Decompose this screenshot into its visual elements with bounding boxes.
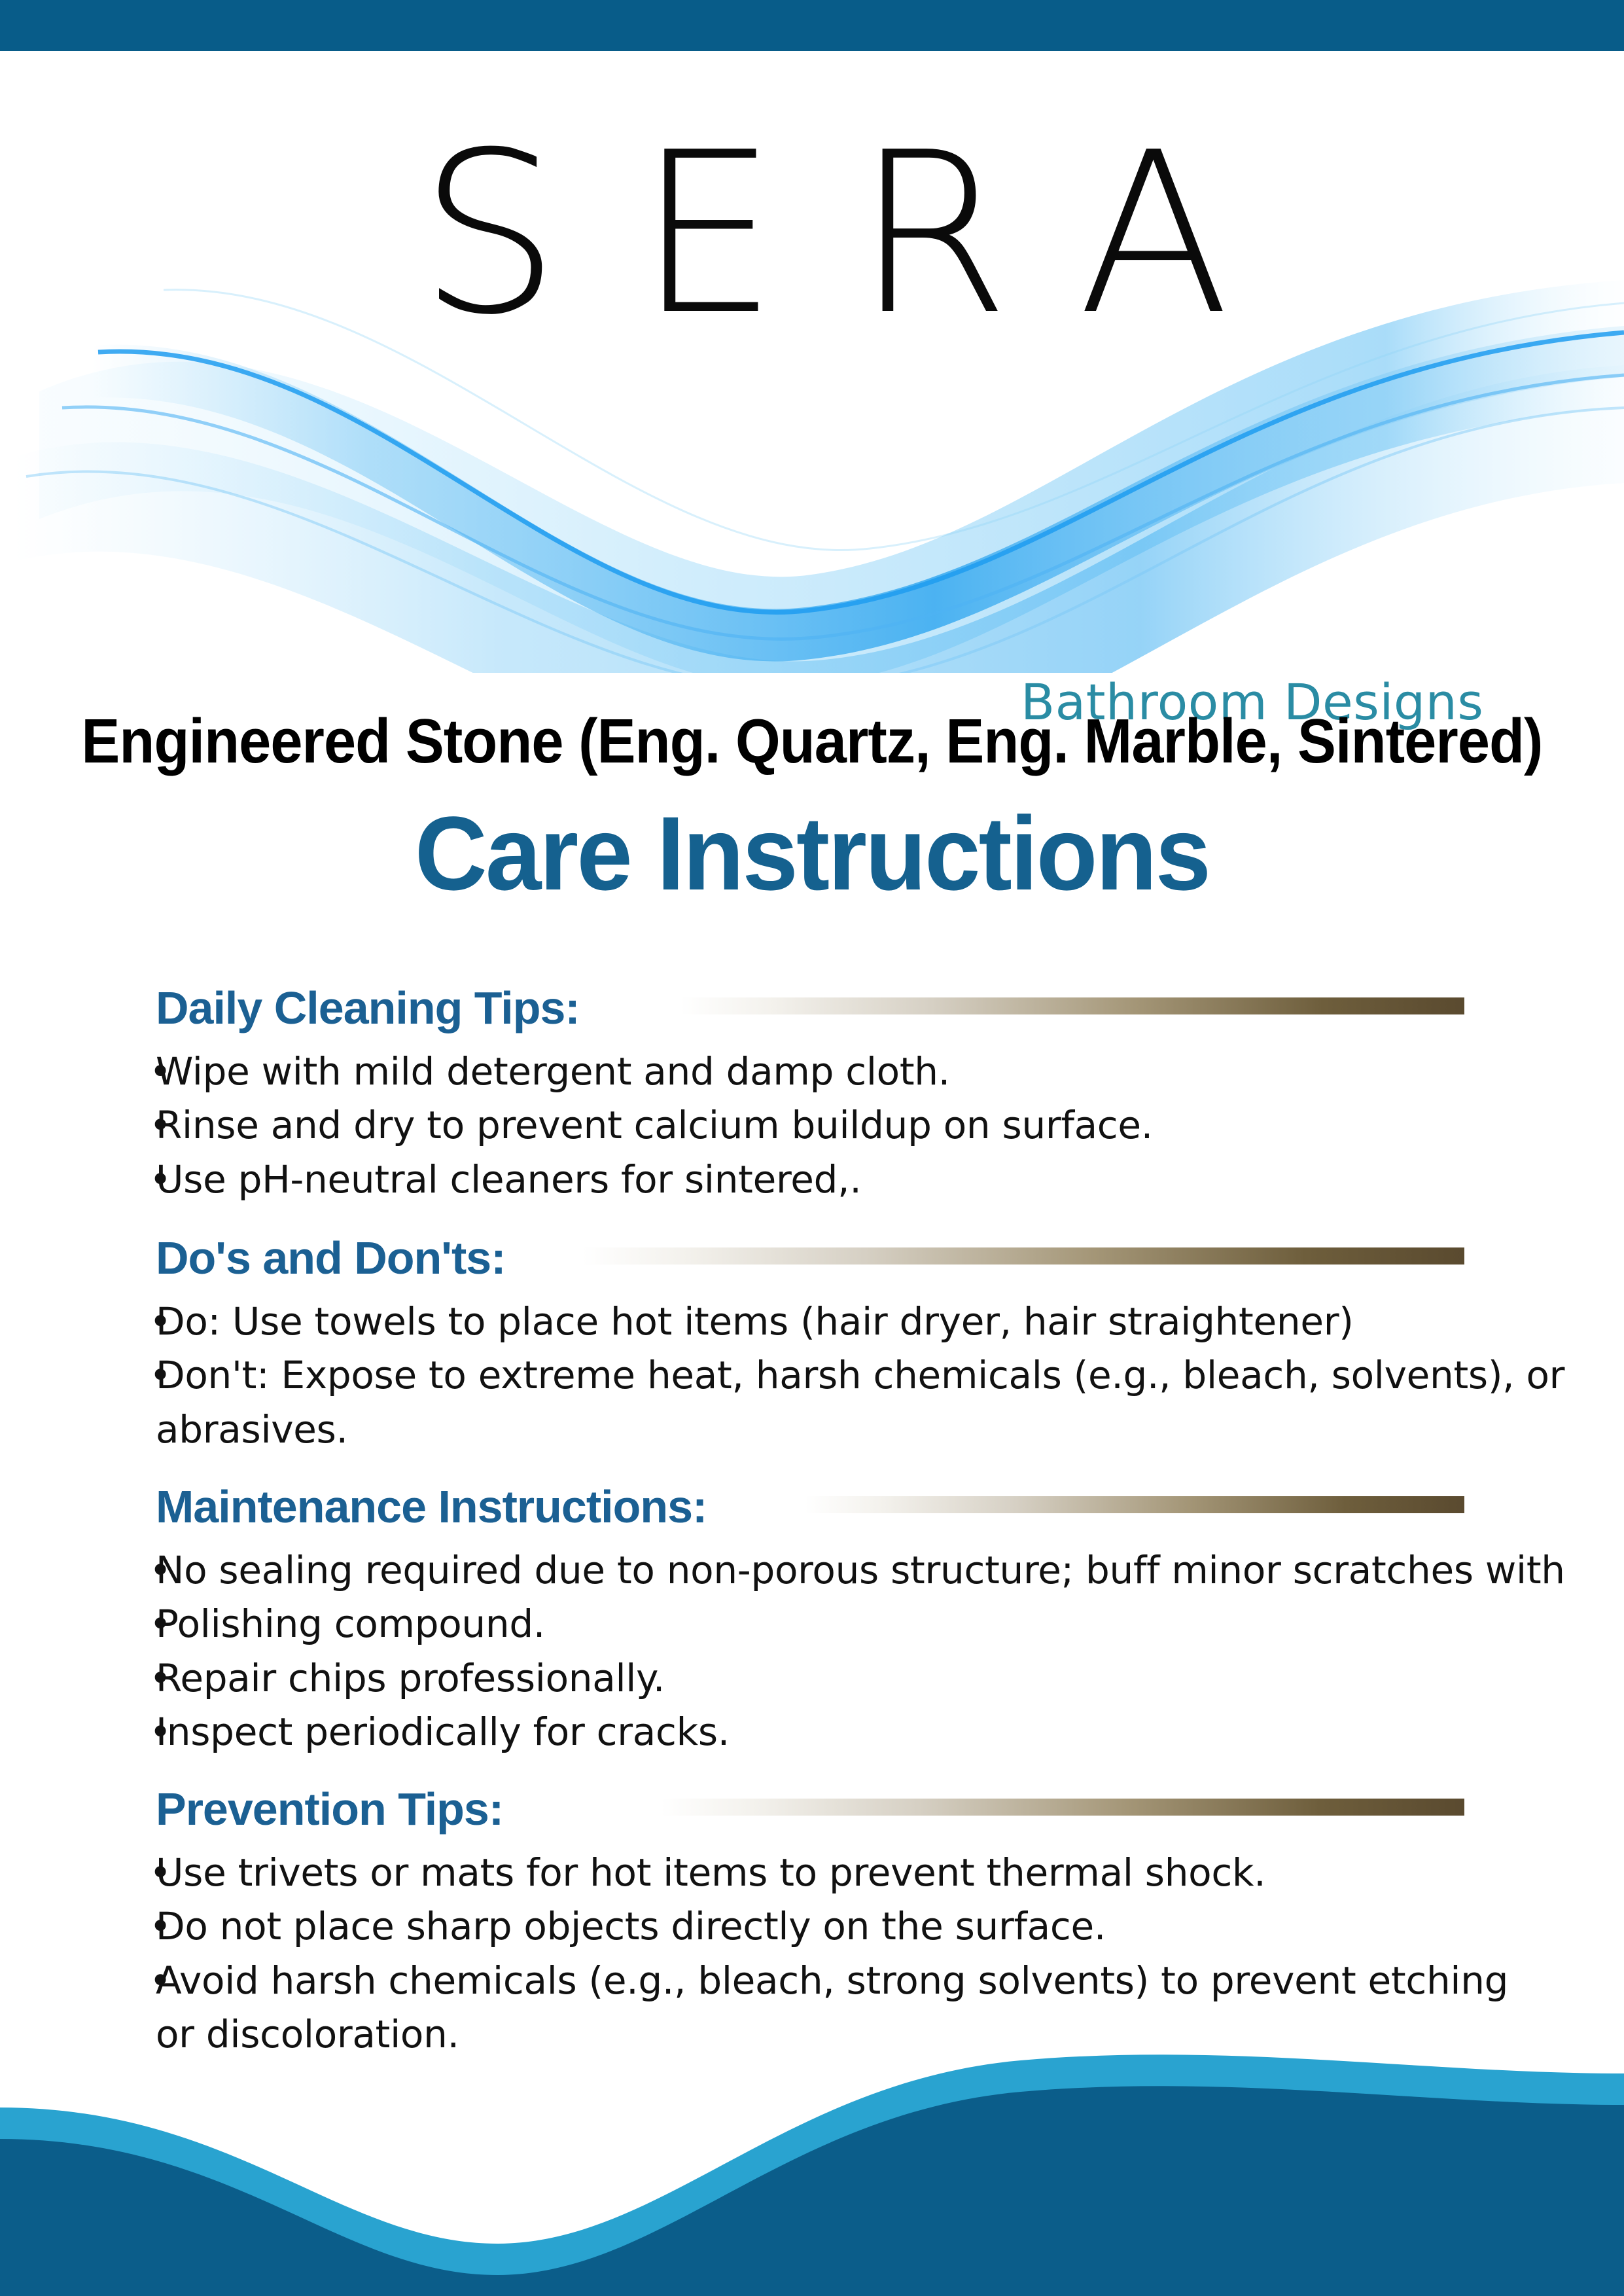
list-item-text: Avoid harsh chemicals (e.g., bleach, str… bbox=[156, 1958, 1508, 2056]
list-item: •Repair chips professionally. bbox=[0, 1651, 1624, 1705]
list-item: •Inspect periodically for cracks. bbox=[0, 1705, 1624, 1759]
section-header-row: Daily Cleaning Tips: bbox=[0, 982, 1624, 1045]
list-item-text: Do: Use towels to place hot items (hair … bbox=[156, 1299, 1354, 1344]
bullet-marker-icon: • bbox=[149, 1153, 171, 1206]
section-heading-daily-cleaning-tips: Daily Cleaning Tips: bbox=[156, 982, 580, 1034]
list-item: •Rinse and dry to prevent calcium buildu… bbox=[0, 1098, 1624, 1152]
subject-title: Engineered Stone (Eng. Quartz, Eng. Marb… bbox=[65, 706, 1559, 778]
list-item-text: Repair chips professionally. bbox=[156, 1656, 665, 1700]
section-divider-rule bbox=[582, 1247, 1464, 1265]
section-maintenance-instructions: Maintenance Instructions: •No sealing re… bbox=[0, 1480, 1624, 1759]
list-item-text: Do not place sharp objects directly on t… bbox=[156, 1904, 1106, 1948]
section-header-row: Prevention Tips: bbox=[0, 1783, 1624, 1846]
bullet-marker-icon: • bbox=[149, 1295, 171, 1348]
list-item-text: Inspect periodically for cracks. bbox=[156, 1710, 730, 1754]
footer-wave-graphic bbox=[0, 2047, 1624, 2296]
bullet-marker-icon: • bbox=[149, 1954, 171, 2007]
bullet-marker-icon: • bbox=[149, 1348, 171, 1402]
list-item-text: Wipe with mild detergent and damp cloth. bbox=[156, 1049, 950, 1094]
list-item-text: No sealing required due to non-porous st… bbox=[156, 1548, 1565, 1592]
bullet-list-prevention-tips: •Use trivets or mats for hot items to pr… bbox=[0, 1846, 1624, 2061]
top-accent-bar bbox=[0, 0, 1624, 51]
list-item: •Don't: Expose to extreme heat, harsh ch… bbox=[0, 1348, 1624, 1456]
list-item-text: Don't: Expose to extreme heat, harsh che… bbox=[156, 1353, 1564, 1451]
bullet-marker-icon: • bbox=[149, 1899, 171, 1953]
bullet-list-maintenance-instructions: •No sealing required due to non-porous s… bbox=[0, 1543, 1624, 1759]
bullet-marker-icon: • bbox=[149, 1045, 171, 1098]
bullet-marker-icon: • bbox=[149, 1543, 171, 1597]
list-item: •Wipe with mild detergent and damp cloth… bbox=[0, 1045, 1624, 1098]
section-divider-rule bbox=[661, 1799, 1464, 1816]
list-item-text: Use trivets or mats for hot items to pre… bbox=[156, 1850, 1265, 1895]
section-header-row: Maintenance Instructions: bbox=[0, 1480, 1624, 1543]
list-item: •Polishing compound. bbox=[0, 1597, 1624, 1651]
brand-logo-wordmark: SERA bbox=[249, 123, 1400, 346]
bullet-list-dos-and-donts: •Do: Use towels to place hot items (hair… bbox=[0, 1295, 1624, 1456]
page-title: Care Instructions bbox=[33, 793, 1592, 914]
list-item-text: Polishing compound. bbox=[156, 1602, 545, 1646]
list-item: •Use trivets or mats for hot items to pr… bbox=[0, 1846, 1624, 1899]
list-item: •Do not place sharp objects directly on … bbox=[0, 1899, 1624, 1953]
bullet-marker-icon: • bbox=[149, 1098, 171, 1152]
section-heading-prevention-tips: Prevention Tips: bbox=[156, 1783, 503, 1835]
bullet-marker-icon: • bbox=[149, 1846, 171, 1899]
section-daily-cleaning-tips: Daily Cleaning Tips: •Wipe with mild det… bbox=[0, 982, 1624, 1206]
brand-header: SERA bbox=[0, 51, 1624, 673]
section-header-row: Do's and Don'ts: bbox=[0, 1232, 1624, 1295]
list-item-text: Rinse and dry to prevent calcium buildup… bbox=[156, 1103, 1153, 1147]
section-divider-rule bbox=[805, 1496, 1464, 1513]
section-prevention-tips: Prevention Tips: •Use trivets or mats fo… bbox=[0, 1783, 1624, 2061]
list-item: •Do: Use towels to place hot items (hair… bbox=[0, 1295, 1624, 1348]
section-heading-dos-and-donts: Do's and Don'ts: bbox=[156, 1232, 506, 1284]
section-dos-and-donts: Do's and Don'ts: •Do: Use towels to plac… bbox=[0, 1232, 1624, 1456]
list-item-text: Use pH-neutral cleaners for sintered,. bbox=[156, 1157, 861, 1202]
section-divider-rule bbox=[680, 997, 1464, 1014]
list-item: •No sealing required due to non-porous s… bbox=[0, 1543, 1624, 1597]
bullet-marker-icon: • bbox=[149, 1651, 171, 1705]
list-item: •Avoid harsh chemicals (e.g., bleach, st… bbox=[0, 1954, 1624, 2062]
section-heading-maintenance-instructions: Maintenance Instructions: bbox=[156, 1480, 707, 1533]
list-item: •Use pH-neutral cleaners for sintered,. bbox=[0, 1153, 1624, 1206]
bullet-list-daily-cleaning-tips: •Wipe with mild detergent and damp cloth… bbox=[0, 1045, 1624, 1206]
bullet-marker-icon: • bbox=[149, 1705, 171, 1759]
bullet-marker-icon: • bbox=[149, 1597, 171, 1651]
